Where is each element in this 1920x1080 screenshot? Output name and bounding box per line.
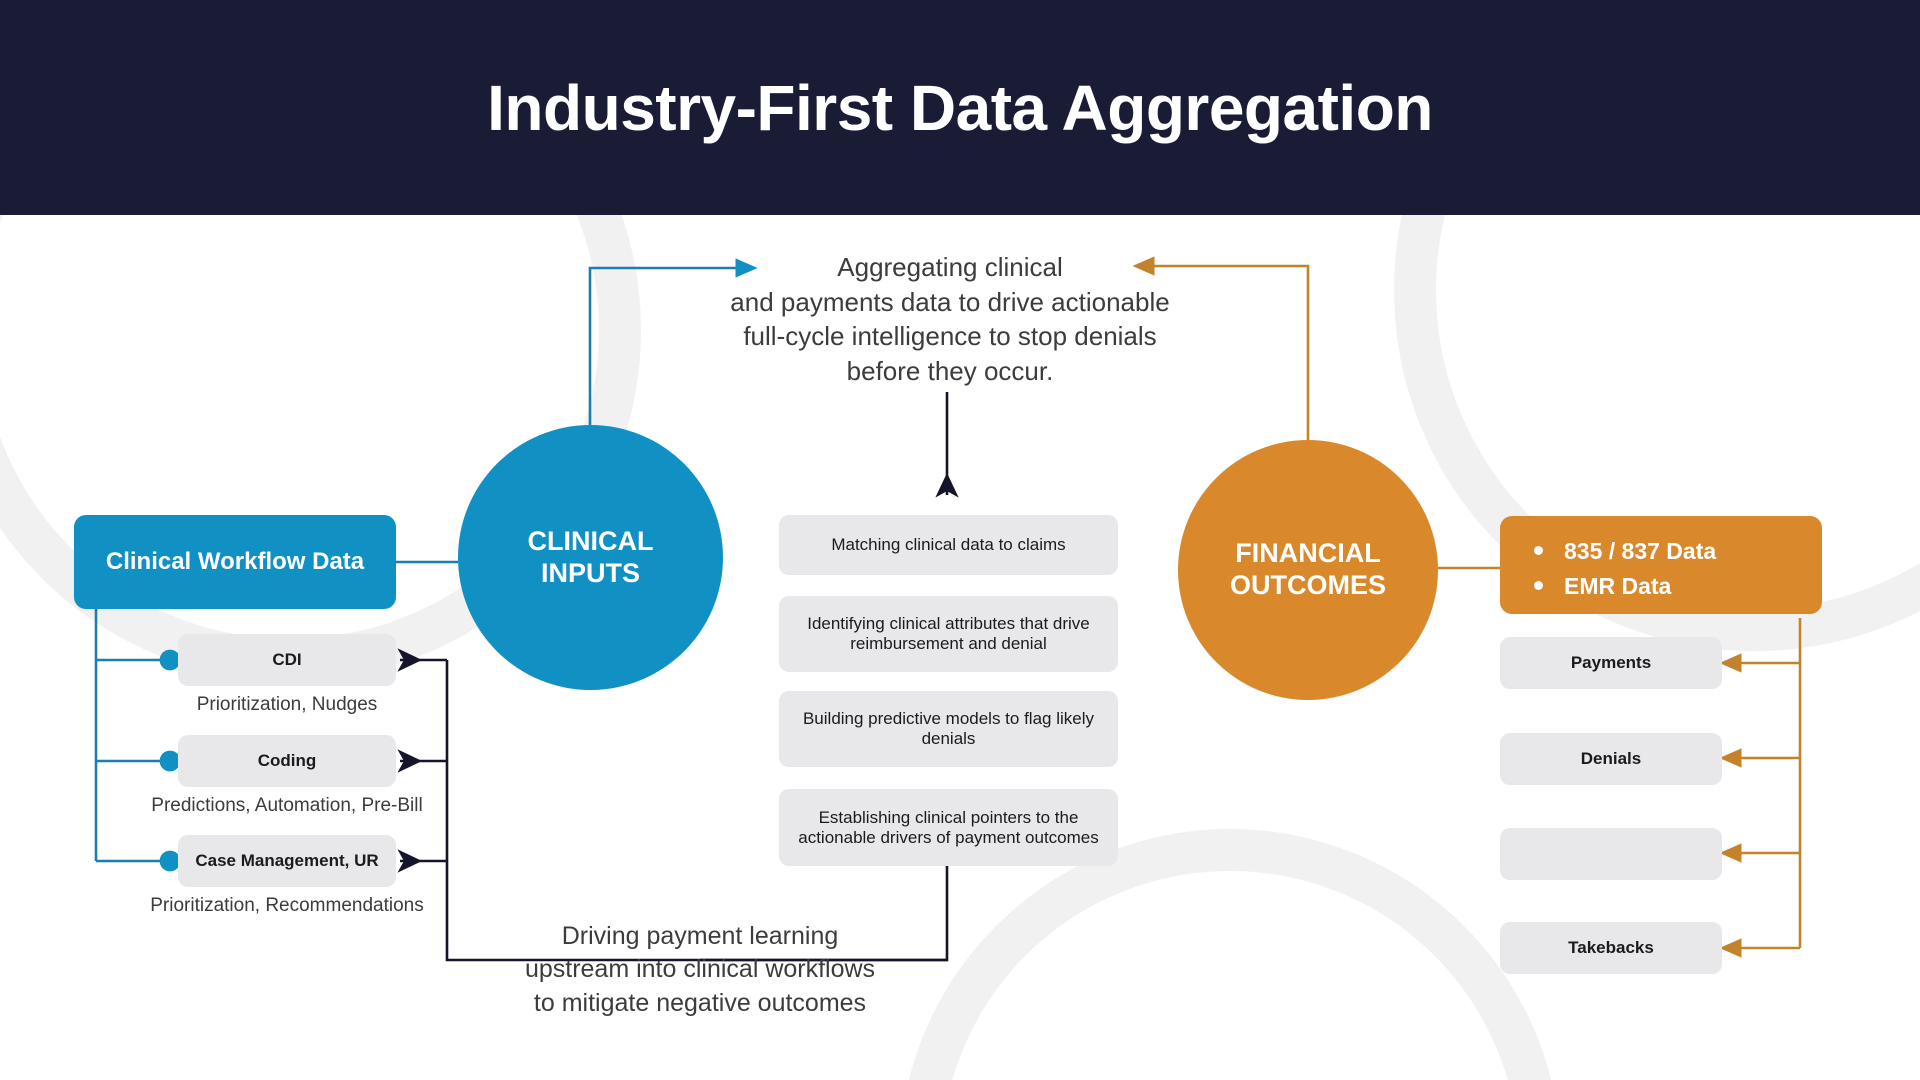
clinical-item-coding-caption: Predictions, Automation, Pre-Bill <box>140 795 434 817</box>
background-ring-bottom <box>920 850 1540 1080</box>
center-note: Aggregating clinical and payments data t… <box>660 250 1240 388</box>
clinical-item-case-management-caption: Prioritization, Recommendations <box>136 895 438 917</box>
clinical-workflow-data-box[interactable]: Clinical Workflow Data <box>74 515 396 609</box>
middle-step-2[interactable]: Identifying clinical attributes that dri… <box>779 596 1118 672</box>
clinical-item-coding-label: Coding <box>258 751 317 771</box>
diagram-canvas: Industry-First Data Aggregation <box>0 0 1920 1080</box>
financial-outcome-payments-label: Payments <box>1571 653 1651 673</box>
center-note-line-4: before they occur. <box>660 354 1240 389</box>
financial-data-sources-box[interactable]: 835 / 837 Data EMR Data <box>1500 516 1822 614</box>
financial-outcome-payments[interactable]: Payments <box>1500 637 1722 689</box>
financial-outcome-denials[interactable]: Denials <box>1500 733 1722 785</box>
middle-step-3-label: Building predictive models to flag likel… <box>797 709 1100 749</box>
financial-outcome-write-offs[interactable] <box>1500 828 1722 880</box>
financial-outcome-denials-label: Denials <box>1581 749 1641 769</box>
financial-outcome-takebacks-label: Takebacks <box>1568 938 1654 958</box>
clinical-inputs-label-line2: INPUTS <box>541 558 640 588</box>
middle-step-1-label: Matching clinical data to claims <box>831 535 1065 555</box>
center-note-line-1: Aggregating clinical <box>660 250 1240 285</box>
financial-outcomes-circle[interactable]: FINANCIAL OUTCOMES <box>1178 440 1438 700</box>
page-title: Industry-First Data Aggregation <box>487 71 1433 145</box>
financial-outcome-takebacks[interactable]: Takebacks <box>1500 922 1722 974</box>
clinical-item-case-management-label: Case Management, UR <box>195 851 378 871</box>
bottom-note-line-3: to mitigate negative outcomes <box>465 987 935 1020</box>
financial-outcomes-label-line2: OUTCOMES <box>1230 570 1386 600</box>
bottom-note-line-1: Driving payment learning <box>465 920 935 953</box>
center-note-line-3: full-cycle intelligence to stop denials <box>660 319 1240 354</box>
middle-step-2-label: Identifying clinical attributes that dri… <box>797 614 1100 654</box>
clinical-item-cdi[interactable]: CDI <box>178 634 396 686</box>
clinical-inputs-label-line1: CLINICAL <box>528 526 654 556</box>
data-source-item-835-837: 835 / 837 Data <box>1534 534 1822 569</box>
clinical-workflow-data-label: Clinical Workflow Data <box>106 548 364 576</box>
clinical-item-case-management[interactable]: Case Management, UR <box>178 835 396 887</box>
clinical-item-cdi-caption: Prioritization, Nudges <box>178 694 396 716</box>
data-source-item-emr: EMR Data <box>1534 569 1822 604</box>
middle-step-4-label: Establishing clinical pointers to the ac… <box>797 808 1100 848</box>
bottom-note-line-2: upstream into clinical workflows <box>465 953 935 986</box>
middle-step-1[interactable]: Matching clinical data to claims <box>779 515 1118 575</box>
middle-step-4[interactable]: Establishing clinical pointers to the ac… <box>779 789 1118 866</box>
financial-outcomes-label-line1: FINANCIAL <box>1235 538 1380 568</box>
bottom-note: Driving payment learning upstream into c… <box>465 920 935 1020</box>
header-bar: Industry-First Data Aggregation <box>0 0 1920 215</box>
clinical-item-coding[interactable]: Coding <box>178 735 396 787</box>
center-note-line-2: and payments data to drive actionable <box>660 285 1240 320</box>
middle-step-3[interactable]: Building predictive models to flag likel… <box>779 691 1118 767</box>
clinical-inputs-circle[interactable]: CLINICAL INPUTS <box>458 425 723 690</box>
clinical-item-cdi-label: CDI <box>272 650 301 670</box>
financial-data-sources-list: 835 / 837 Data EMR Data <box>1500 516 1822 621</box>
